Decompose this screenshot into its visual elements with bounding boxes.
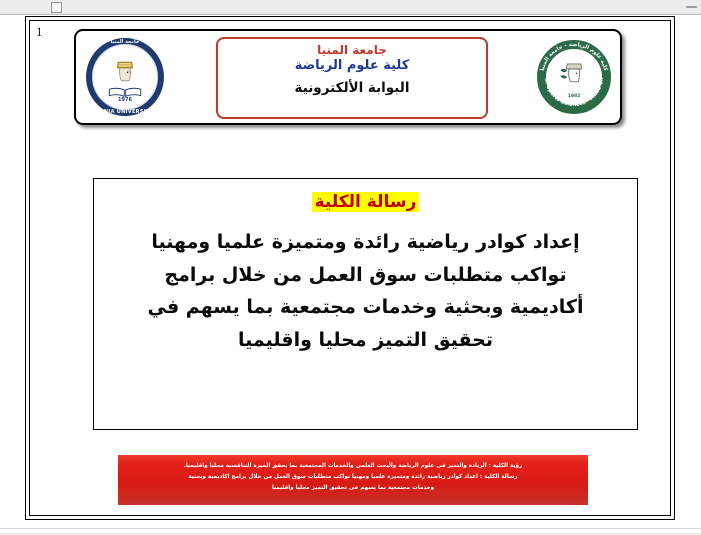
footer-banner: رؤية الكلية : الريادة والتميز فى علوم ال… (118, 455, 588, 505)
mission-line: إعداد كوادر رياضية رائدة ومتميزة علميا و… (112, 226, 619, 259)
open-book-icon (106, 87, 144, 97)
faculty-of-sports-sciences-logo: كلية علوم الرياضة - جامعة المنيا Faculty… (534, 35, 614, 119)
mission-line: تحقيق التميز محليا واقليميا (112, 324, 619, 357)
header-faculty-name: كلية علوم الرياضة (218, 58, 486, 75)
document-viewer: 1 جامعة المنيا (0, 0, 701, 535)
minia-university-seal-icon: جامعة المنيا 197 (86, 38, 164, 116)
mission-title: رسالة الكلية (312, 192, 420, 212)
faculty-of-sports-sciences-seal-icon: كلية علوم الرياضة - جامعة المنيا Faculty… (537, 40, 611, 114)
mission-line: تواكب متطلبات سوق العمل من خلال برامج (112, 259, 619, 292)
footer-line-mission-cont: وخدمات مجتمعية بما يسهم فى تحقيق التميز … (118, 483, 588, 494)
page-inner-border: 1 جامعة المنيا (29, 20, 671, 516)
document-page: 1 جامعة المنيا (25, 16, 675, 520)
footer-line-mission: رسالة الكلية : اعداد كوادر رياضية رائدة … (118, 472, 588, 483)
mission-body: إعداد كوادر رياضية رائدة ومتميزة علميا و… (94, 226, 637, 357)
viewer-bottom-rule (0, 528, 701, 529)
seal-ring-text-arabic: جامعة المنيا (92, 39, 158, 45)
viewer-toolbar (0, 0, 701, 15)
minia-university-logo: جامعة المنيا 197 (82, 35, 168, 119)
mission-statement-box: رسالة الكلية إعداد كوادر رياضية رائدة وم… (93, 178, 638, 430)
mission-line: أكاديمية وبحثية وخدمات مجتمعية بما يسهم … (112, 291, 619, 324)
seal-year: 1982 (546, 94, 602, 99)
header-banner: جامعة المنيا 197 (74, 29, 622, 125)
header-university-name: جامعة المنيا (218, 43, 486, 58)
header-portal-name: البوابة الألكترونية (218, 80, 486, 97)
seal-year: 1976 (92, 97, 158, 103)
pharaoh-head-icon (557, 58, 591, 92)
header-title-box: جامعة المنيا كلية علوم الرياضة البوابة ا… (216, 37, 488, 119)
page-number: 1 (36, 25, 43, 38)
minimize-icon[interactable] (686, 6, 697, 8)
checkbox-icon[interactable] (51, 2, 62, 13)
footer-line-vision: رؤية الكلية : الريادة والتميز فى علوم ال… (118, 461, 588, 472)
seal-ring-text-english: MINIA UNIVERSITY (92, 109, 158, 115)
